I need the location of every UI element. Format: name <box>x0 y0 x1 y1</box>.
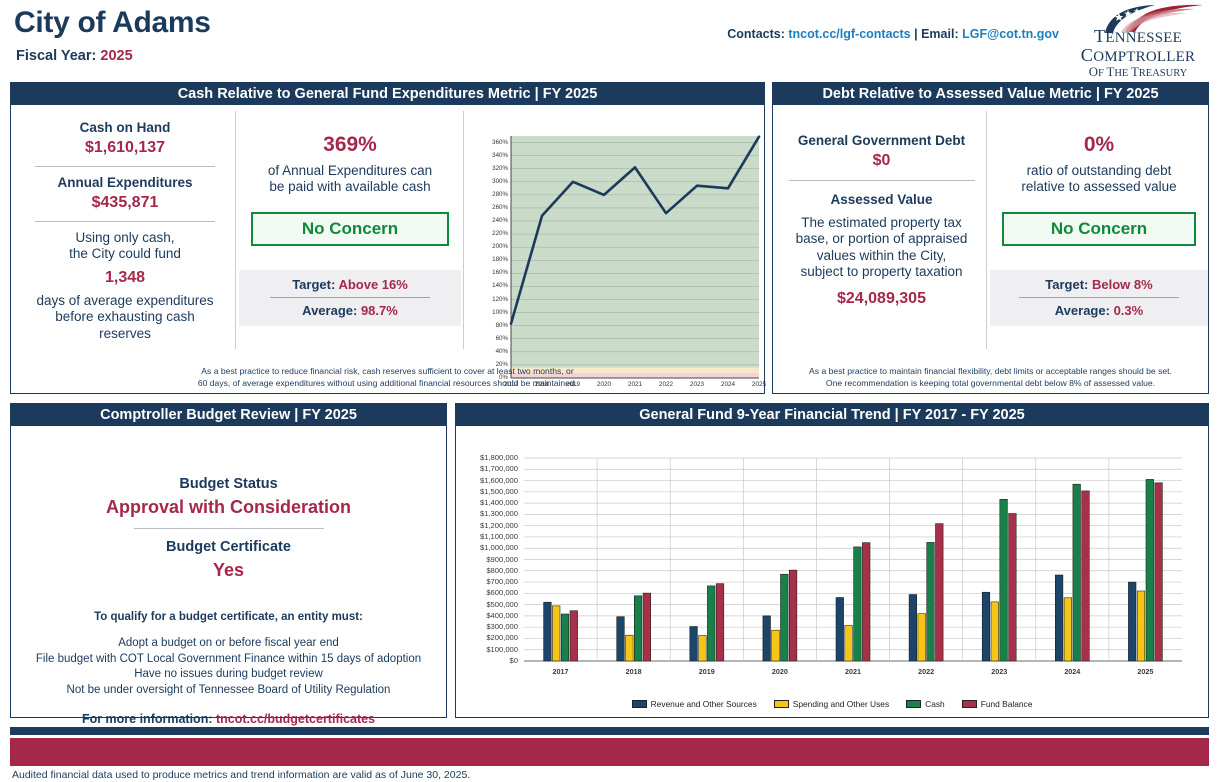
legend-label: Spending and Other Uses <box>793 699 889 709</box>
general-fund-trend-panel: General Fund 9-Year Financial Trend | FY… <box>455 403 1209 718</box>
contact-info: Contacts: tncot.cc/lgf-contacts | Email:… <box>727 27 1059 41</box>
trend-y-tick: 140% <box>481 282 508 289</box>
budget-status-value: Approval with Consideration <box>11 497 446 518</box>
cash-footnote-line-2: 60 days, of average expenditures without… <box>17 378 758 389</box>
email-label: Email: <box>921 27 959 41</box>
footer-crimson-bar <box>10 738 1209 766</box>
trend-y-tick: 360% <box>481 139 508 146</box>
legend-label: Revenue and Other Sources <box>651 699 757 709</box>
gov-debt-label: General Government Debt <box>777 133 986 148</box>
annual-expenditures-label: Annual Expenditures <box>15 175 235 190</box>
bar-y-tick: $200,000 <box>456 633 518 642</box>
bar-y-tick: $1,400,000 <box>456 498 518 507</box>
divider <box>1019 297 1179 298</box>
bar-y-tick: $500,000 <box>456 600 518 609</box>
bar-y-tick: $300,000 <box>456 622 518 631</box>
debt-panel-title: Debt Relative to Assessed Value Metric |… <box>773 83 1208 105</box>
fiscal-year-label: Fiscal Year: <box>16 48 96 64</box>
cash-average-row: Average: 98.7% <box>239 303 461 318</box>
bar-y-tick: $800,000 <box>456 566 518 575</box>
bar-y-tick: $1,200,000 <box>456 521 518 530</box>
debt-target-value: Below 8% <box>1092 277 1153 292</box>
trend-y-tick: 160% <box>481 269 508 276</box>
assessed-desc-line-1: The estimated property tax <box>777 215 986 231</box>
footer-note: Audited financial data used to produce m… <box>12 769 470 781</box>
days-text-line-1: days of average expenditures <box>15 293 235 309</box>
bar-y-tick: $700,000 <box>456 577 518 586</box>
cash-panel-body: Cash on Hand $1,610,137 Annual Expenditu… <box>11 105 764 393</box>
bar-x-tick: 2017 <box>524 667 597 676</box>
page-header: City of Adams Fiscal Year: 2025 Contacts… <box>0 0 1219 78</box>
divider <box>463 111 464 349</box>
using-cash-line-1: Using only cash, <box>15 230 235 246</box>
legend-item[interactable]: Fund Balance <box>962 699 1033 709</box>
bar-x-tick: 2024 <box>1036 667 1109 676</box>
trend-y-tick: 340% <box>481 152 508 159</box>
logo-line-3: OF THE TREASURY <box>1067 66 1209 80</box>
trend-y-tick: 240% <box>481 217 508 224</box>
trend-y-tick: 80% <box>481 322 508 329</box>
logo-line-1: TENNESSEE <box>1067 27 1209 46</box>
cash-to-expenditures-trend-chart: 0%20%40%60%80%100%120%140%160%180%200%22… <box>481 130 763 392</box>
bar-x-tick: 2021 <box>816 667 889 676</box>
general-fund-bar-chart: $0$100,000$200,000$300,000$400,000$500,0… <box>456 426 1208 717</box>
trend-y-tick: 120% <box>481 296 508 303</box>
trend-panel-body: $0$100,000$200,000$300,000$400,000$500,0… <box>456 426 1208 717</box>
divider <box>134 528 324 529</box>
legend-swatch <box>962 700 977 708</box>
cash-status-badge: No Concern <box>251 212 449 246</box>
bar-y-tick: $1,100,000 <box>456 532 518 541</box>
assessed-value-label: Assessed Value <box>777 192 986 207</box>
bar-chart-legend: Revenue and Other SourcesSpending and Ot… <box>456 699 1208 709</box>
legend-swatch <box>632 700 647 708</box>
trend-y-tick: 100% <box>481 309 508 316</box>
using-cash-line-2: the City could fund <box>15 246 235 262</box>
debt-target-label: Target: <box>1045 277 1088 292</box>
bar-x-tick: 2025 <box>1109 667 1182 676</box>
budget-panel-body: Budget Status Approval with Consideratio… <box>11 476 446 767</box>
debt-panel-body: General Government Debt $0 Assessed Valu… <box>773 105 1208 393</box>
qualify-heading: To qualify for a budget certificate, an … <box>11 611 446 623</box>
legend-item[interactable]: Revenue and Other Sources <box>632 699 757 709</box>
bar-y-tick: $1,500,000 <box>456 487 518 496</box>
comptroller-logo: TENNESSEE COMPTROLLER OF THE TREASURY <box>1067 4 1209 70</box>
bar-y-tick: $900,000 <box>456 555 518 564</box>
contact-separator: | <box>914 27 918 41</box>
fiscal-year: Fiscal Year: 2025 <box>16 48 133 64</box>
more-info-link[interactable]: tncot.cc/budgetcertificates <box>216 712 375 726</box>
trend-y-tick: 280% <box>481 191 508 198</box>
list-item: File budget with COT Local Government Fi… <box>11 652 446 668</box>
gov-debt-value: $0 <box>777 152 986 170</box>
trend-y-tick: 220% <box>481 230 508 237</box>
budget-certificate-label: Budget Certificate <box>11 539 446 555</box>
contacts-label: Contacts: <box>727 27 785 41</box>
trend-y-tick: 320% <box>481 165 508 172</box>
bar-x-tick: 2022 <box>890 667 963 676</box>
bar-y-tick: $1,700,000 <box>456 464 518 473</box>
more-info-row: For more information: tncot.cc/budgetcer… <box>11 712 446 726</box>
divider <box>35 221 215 222</box>
debt-metric-panel: Debt Relative to Assessed Value Metric |… <box>772 82 1209 394</box>
legend-swatch <box>774 700 789 708</box>
debt-pct-desc-line-2: relative to assessed value <box>990 179 1208 195</box>
logo-wordmark: TENNESSEE COMPTROLLER OF THE TREASURY <box>1067 27 1209 79</box>
cash-average-label: Average: <box>302 303 357 318</box>
trend-y-tick: 40% <box>481 348 508 355</box>
bar-y-tick: $100,000 <box>456 645 518 654</box>
logo-line-2: COMPTROLLER <box>1067 46 1209 65</box>
cash-pct-desc-line-1: of Annual Expenditures can <box>239 163 461 179</box>
bar-y-tick: $1,000,000 <box>456 543 518 552</box>
debt-pct-value: 0% <box>990 133 1208 157</box>
trend-y-tick: 180% <box>481 256 508 263</box>
divider <box>986 111 987 349</box>
trend-panel-title: General Fund 9-Year Financial Trend | FY… <box>456 404 1208 426</box>
cash-pct-value: 369% <box>239 133 461 157</box>
comptroller-budget-review-panel: Comptroller Budget Review | FY 2025 Budg… <box>10 403 447 718</box>
cash-footnote: As a best practice to reduce financial r… <box>17 366 758 389</box>
list-item: Have no issues during budget review <box>11 667 446 683</box>
debt-average-row: Average: 0.3% <box>990 303 1208 318</box>
days-text-line-2: before exhausting cash <box>15 309 235 325</box>
bar-x-tick: 2023 <box>963 667 1036 676</box>
bar-x-tick: 2019 <box>670 667 743 676</box>
email-link[interactable]: LGF@cot.tn.gov <box>962 27 1059 41</box>
debt-average-label: Average: <box>1055 303 1110 318</box>
debt-footnote-line-1: As a best practice to maintain financial… <box>779 366 1202 377</box>
divider <box>270 297 430 298</box>
budget-panel-title: Comptroller Budget Review | FY 2025 <box>11 404 446 426</box>
more-info-label: For more information: <box>82 712 213 726</box>
cash-on-hand-value: $1,610,137 <box>15 139 235 157</box>
debt-pct-desc-line-1: ratio of outstanding debt <box>990 163 1208 179</box>
trend-y-tick: 200% <box>481 243 508 250</box>
trend-y-tick: 60% <box>481 335 508 342</box>
assessed-value-amount: $24,089,305 <box>777 290 986 308</box>
legend-item[interactable]: Spending and Other Uses <box>774 699 889 709</box>
page-title: City of Adams <box>14 6 211 40</box>
legend-item[interactable]: Cash <box>906 699 945 709</box>
cash-panel-title: Cash Relative to General Fund Expenditur… <box>11 83 764 105</box>
budget-status-label: Budget Status <box>11 476 446 492</box>
debt-footnote: As a best practice to maintain financial… <box>779 366 1202 389</box>
trend-y-tick: 300% <box>481 178 508 185</box>
days-text-line-3: reserves <box>15 326 235 342</box>
bar-x-tick: 2018 <box>597 667 670 676</box>
bar-y-tick: $400,000 <box>456 611 518 620</box>
assessed-desc-line-4: subject to property taxation <box>777 264 986 280</box>
cash-footnote-line-1: As a best practice to reduce financial r… <box>17 366 758 377</box>
budget-certificate-value: Yes <box>11 560 446 581</box>
bar-y-tick: $1,600,000 <box>456 476 518 485</box>
cash-target-value: Above 16% <box>338 277 407 292</box>
cash-target-row: Target: Above 16% <box>239 277 461 292</box>
cash-pct-desc-line-2: be paid with available cash <box>239 179 461 195</box>
divider <box>789 180 975 181</box>
cash-average-value: 98.7% <box>361 303 398 318</box>
bar-y-tick: $1,800,000 <box>456 453 518 462</box>
assessed-desc-line-3: values within the City, <box>777 248 986 264</box>
contacts-link[interactable]: tncot.cc/lgf-contacts <box>788 27 910 41</box>
list-item: Adopt a budget on or before fiscal year … <box>11 636 446 652</box>
cash-target-label: Target: <box>292 277 335 292</box>
divider <box>35 166 215 167</box>
footer-navy-bar <box>10 727 1209 735</box>
fiscal-year-value: 2025 <box>100 48 132 64</box>
requirements-list: Adopt a budget on or before fiscal year … <box>11 636 446 698</box>
bar-x-tick: 2020 <box>743 667 816 676</box>
cash-metric-panel: Cash Relative to General Fund Expenditur… <box>10 82 765 394</box>
bar-y-tick: $1,300,000 <box>456 509 518 518</box>
cash-on-hand-label: Cash on Hand <box>15 120 235 135</box>
debt-target-row: Target: Below 8% <box>990 277 1208 292</box>
divider <box>235 111 236 349</box>
annual-expenditures-value: $435,871 <box>15 194 235 212</box>
assessed-desc-line-2: base, or portion of appraised <box>777 231 986 247</box>
days-value: 1,348 <box>15 269 235 287</box>
list-item: Not be under oversight of Tennessee Boar… <box>11 683 446 699</box>
debt-footnote-line-2: One recommendation is keeping total gove… <box>779 378 1202 389</box>
debt-average-value: 0.3% <box>1114 303 1144 318</box>
legend-label: Cash <box>925 699 945 709</box>
trend-y-tick: 260% <box>481 204 508 211</box>
bar-y-tick: $0 <box>456 656 518 665</box>
debt-status-badge: No Concern <box>1002 212 1196 246</box>
legend-swatch <box>906 700 921 708</box>
legend-label: Fund Balance <box>981 699 1033 709</box>
bar-y-tick: $600,000 <box>456 588 518 597</box>
